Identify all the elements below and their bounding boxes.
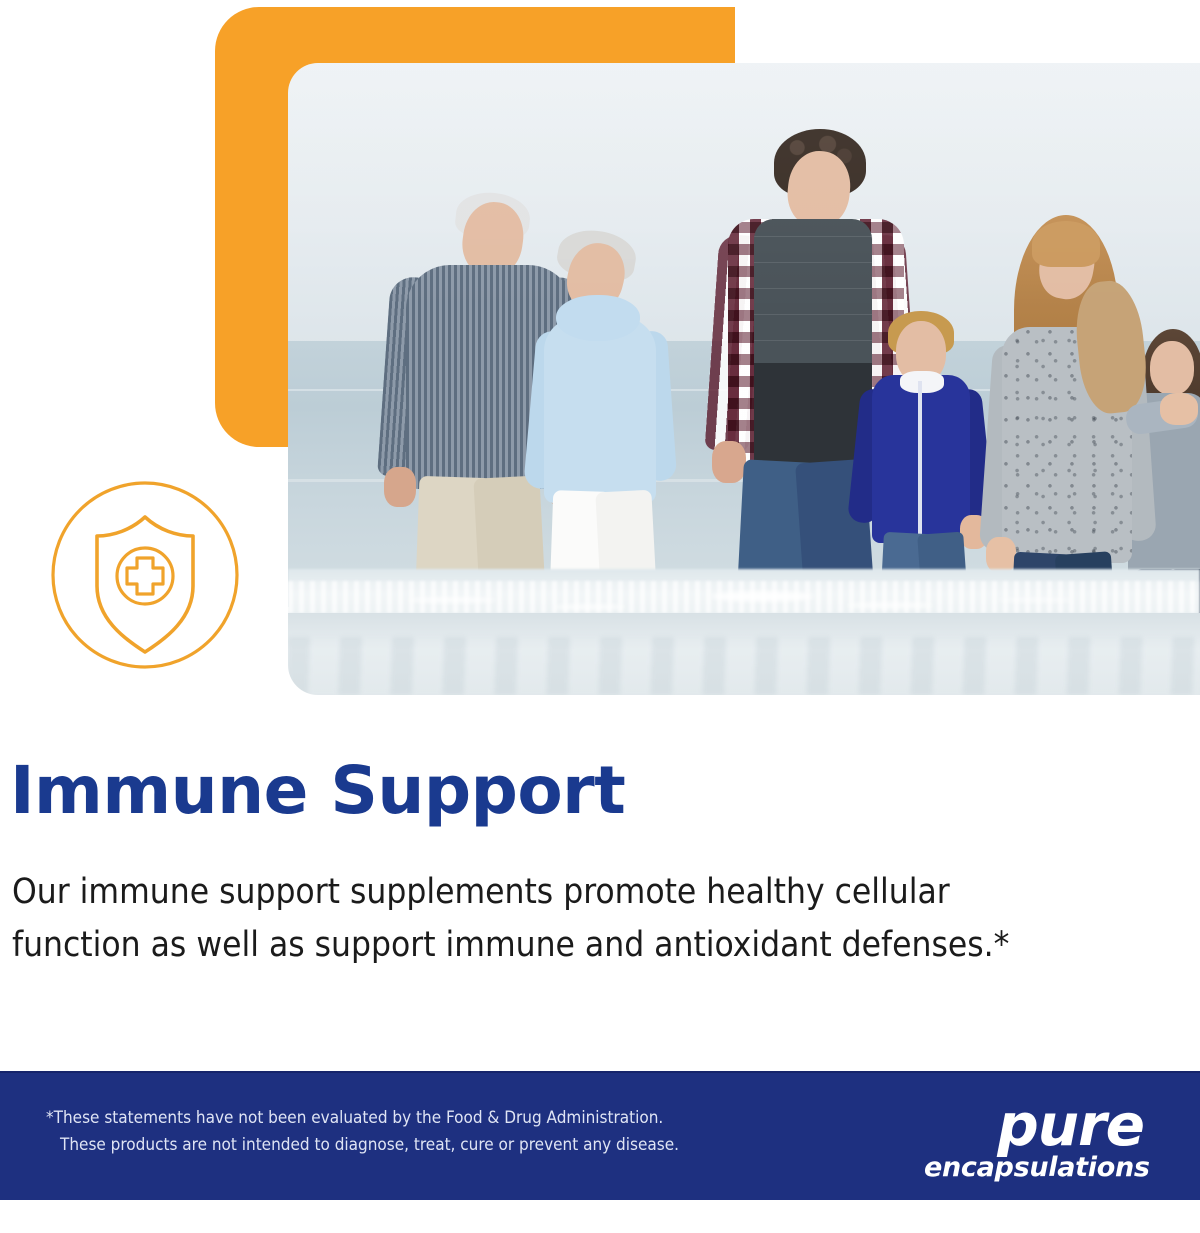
disclaimer-line-2: These products are not intended to diagn… xyxy=(46,1132,806,1159)
logo-wordmark-encapsulations: encapsulations ® xyxy=(924,1153,1144,1183)
brand-logo[interactable]: pure encapsulations ® xyxy=(924,1097,1144,1183)
page-title: Immune Support xyxy=(10,752,1110,829)
registered-trademark-icon: ® xyxy=(1133,1203,1146,1233)
man-left-hand xyxy=(712,441,746,483)
older-woman-cowl-neck xyxy=(556,295,640,341)
beach-scene-illustration xyxy=(288,63,1200,695)
girl-head xyxy=(1150,341,1194,395)
girl-hand xyxy=(1160,393,1198,425)
disclaimer-line-1: *These statements have not been evaluate… xyxy=(46,1108,663,1128)
wet-sand-layer xyxy=(288,613,1200,695)
older-man-left-hand xyxy=(384,467,416,507)
immune-shield-icon xyxy=(46,476,244,674)
boy-collar xyxy=(900,371,944,393)
logo-wordmark-pure: pure xyxy=(924,1097,1144,1153)
woman-hair-front xyxy=(1032,221,1100,267)
footer-bar: *These statements have not been evaluate… xyxy=(0,1071,1200,1200)
disclaimer: *These statements have not been evaluate… xyxy=(46,1105,806,1159)
boy-jacket-zipper xyxy=(918,381,922,539)
older-woman-sweater xyxy=(544,317,656,503)
hero-photo xyxy=(288,63,1200,695)
logo-encapsulations-text: encapsulations xyxy=(924,1152,1150,1183)
page-description: Our immune support supplements promote h… xyxy=(12,866,1082,972)
